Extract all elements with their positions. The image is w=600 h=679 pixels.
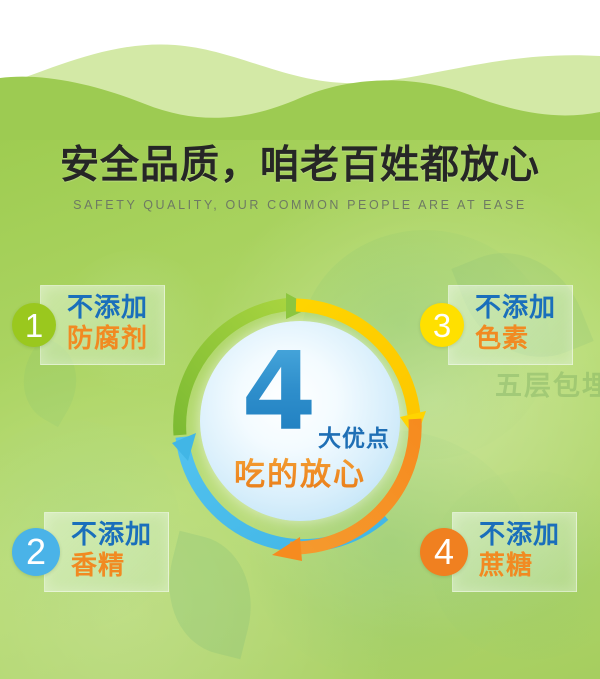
feature-item-2[interactable]: 2 不添加 香精: [12, 512, 169, 592]
infographic-poster: 安全品质，咱老百姓都放心 SAFETY QUALITY, OUR COMMON …: [0, 0, 600, 679]
feature-item-3[interactable]: 3 不添加 色素: [420, 285, 573, 365]
feature-line1: 不添加: [479, 520, 560, 550]
feature-line2: 香精: [71, 550, 152, 582]
watermark-text: 五层包埋: [495, 364, 600, 403]
cycle-ring: 4 大优点 吃的放心: [160, 283, 440, 583]
feature-panel-4: 不添加 蔗糖: [452, 512, 577, 592]
center-number-label: 大优点: [318, 419, 390, 453]
center-text-block: 4 大优点 吃的放心: [200, 321, 400, 521]
feature-line2: 防腐剂: [67, 323, 148, 355]
page-title: 安全品质，咱老百姓都放心: [0, 143, 600, 189]
feature-item-1[interactable]: 1 不添加 防腐剂: [12, 285, 165, 365]
feature-line1: 不添加: [475, 293, 556, 323]
feature-line1: 不添加: [71, 520, 152, 550]
feature-panel-2: 不添加 香精: [44, 512, 169, 592]
feature-panel-3: 不添加 色素: [448, 285, 573, 365]
feature-line1: 不添加: [67, 293, 148, 323]
feature-panel-1: 不添加 防腐剂: [40, 285, 165, 365]
feature-number-badge-3: 3: [420, 303, 464, 347]
feature-line2: 蔗糖: [479, 550, 560, 582]
center-tagline: 吃的放心: [200, 449, 400, 494]
feature-number-badge-1: 1: [12, 303, 56, 347]
feature-line2: 色素: [475, 323, 556, 355]
page-subtitle: SAFETY QUALITY, OUR COMMON PEOPLE ARE AT…: [0, 198, 600, 212]
hill-waves: [0, 0, 600, 140]
feature-number-badge-2: 2: [12, 528, 60, 576]
feature-item-4[interactable]: 4 不添加 蔗糖: [420, 512, 577, 592]
feature-number-badge-4: 4: [420, 528, 468, 576]
